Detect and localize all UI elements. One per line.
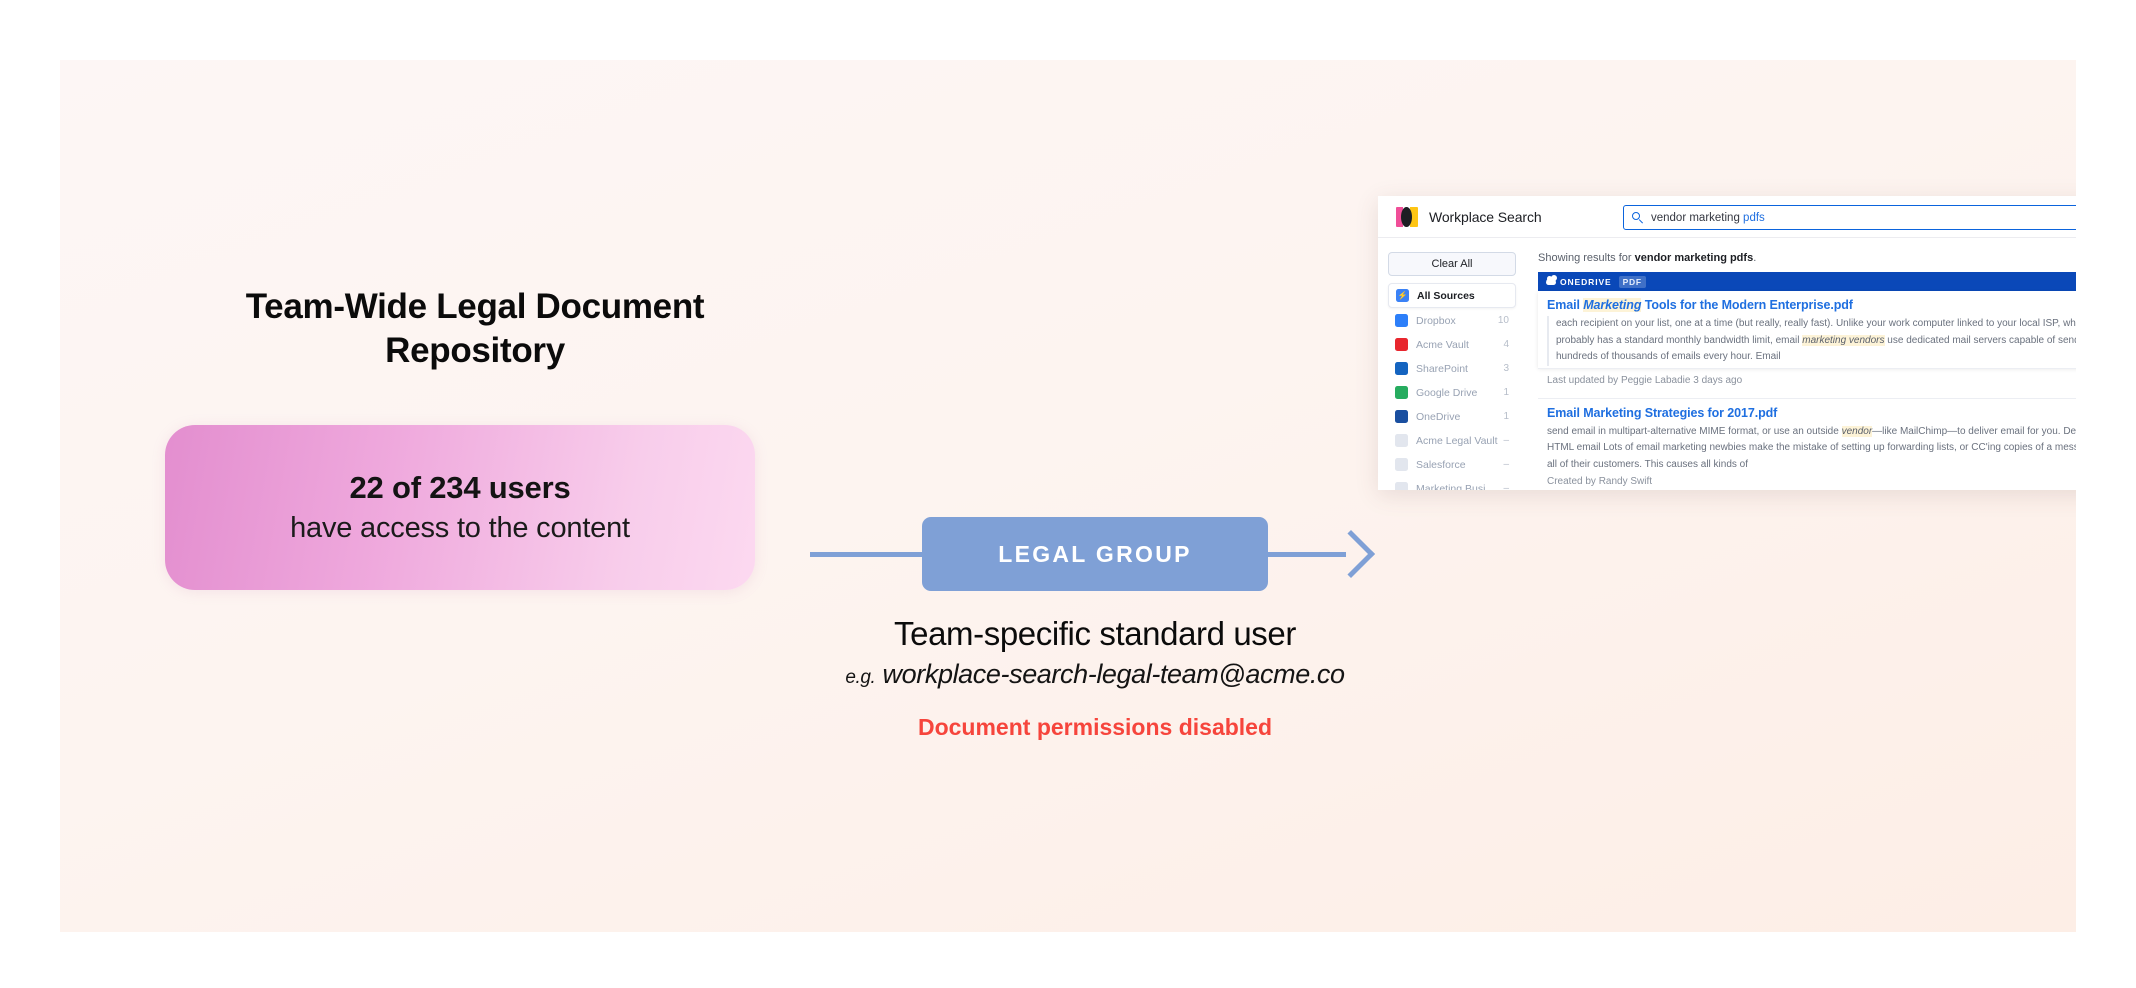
source-filter-list: Dropbox10Acme Vault4SharePoint3Google Dr… (1388, 309, 1516, 490)
arrow-head-icon (1327, 530, 1375, 578)
sidebar-item-label: Acme Legal Vault (1416, 435, 1498, 447)
sidebar-item-count: 1 (1498, 387, 1509, 398)
sidebar-item-source[interactable]: OneDrive1 (1388, 405, 1516, 428)
sidebar-item-label: Salesforce (1416, 459, 1466, 471)
banner-source: ONEDRIVE (1560, 277, 1612, 287)
arrow-line-left (810, 552, 922, 557)
title-part-2: Tools for the Modern Enterprise.pdf (1641, 298, 1852, 312)
sidebar-item-all-sources[interactable]: ⚡ All Sources (1388, 283, 1516, 308)
snippet-highlight: marketing vendors (1802, 335, 1884, 346)
left-column: Team-Wide Legal Document Repository 22 o… (165, 285, 785, 590)
sidebar-item-source[interactable]: Google Drive1 (1388, 381, 1516, 404)
snippet-part-1: send email in multipart-alternative MIME… (1547, 426, 1842, 437)
sidebar-item-label: All Sources (1417, 290, 1475, 302)
result-title[interactable]: Email Marketing Tools for the Modern Ent… (1547, 298, 2076, 312)
flow-arrow: LEGAL GROUP (810, 515, 1380, 593)
sidebar-item-count: 1 (1498, 411, 1509, 422)
title-highlight: Marketing (1583, 298, 1641, 312)
result-card[interactable]: Email Marketing Strategies for 2017.pdf … (1538, 399, 2076, 491)
vault-icon (1395, 338, 1408, 351)
result-source-banner: ONEDRIVE PDF (1538, 272, 2076, 291)
permissions-warning: Document permissions disabled (810, 714, 1380, 741)
user-type-label: Team-specific standard user (810, 615, 1380, 653)
onedrive-icon-label: ONEDRIVE (1546, 277, 1612, 287)
banner-filetype: PDF (1619, 276, 1646, 288)
example-email-row: e.g. workplace-search-legal-team@acme.co (810, 659, 1380, 690)
app-body: Clear All ⚡ All Sources Dropbox10Acme Va… (1378, 239, 2076, 490)
sidebar-item-label: Acme Vault (1416, 339, 1469, 351)
onedrive-icon (1395, 410, 1408, 423)
sidebar-item-count: – (1498, 483, 1509, 490)
vault-icon (1395, 434, 1408, 447)
sidebar-item-source[interactable]: Acme Vault4 (1388, 333, 1516, 356)
sidebar-item-source[interactable]: Acme Legal Vault– (1388, 429, 1516, 452)
results-pane: Showing results for vendor marketing pdf… (1526, 239, 2076, 490)
vault-icon (1395, 482, 1408, 490)
sidebar-item-source[interactable]: Marketing Business Re...– (1388, 477, 1516, 490)
search-value: vendor marketing (1651, 212, 1743, 224)
sidebar-item-source[interactable]: Salesforce– (1388, 453, 1516, 476)
snippet-highlight: vendor (1842, 426, 1873, 437)
page-title: Team-Wide Legal Document Repository (165, 285, 785, 373)
access-summary-card: 22 of 234 users have access to the conte… (165, 425, 755, 590)
result-title[interactable]: Email Marketing Strategies for 2017.pdf (1547, 406, 2076, 420)
sidebar-item-count: – (1498, 435, 1509, 446)
cloud-icon (1546, 278, 1556, 285)
title-part-1: Email (1547, 298, 1583, 312)
sidebar-item-label: Marketing Business Re... (1416, 483, 1498, 491)
legal-group-chip: LEGAL GROUP (922, 517, 1268, 591)
result-body: Email Marketing Tools for the Modern Ent… (1538, 291, 2076, 368)
access-count: 22 of 234 users (349, 470, 570, 506)
filters-sidebar: Clear All ⚡ All Sources Dropbox10Acme Va… (1378, 239, 1526, 490)
sidebar-item-count: 3 (1498, 363, 1509, 374)
sidebar-item-count: 10 (1493, 315, 1509, 326)
search-icon (1632, 212, 1643, 223)
sidebar-item-label: Google Drive (1416, 387, 1477, 399)
drive-icon (1395, 386, 1408, 399)
sharepoint-icon (1395, 362, 1408, 375)
sidebar-item-label: SharePoint (1416, 363, 1468, 375)
middle-column: LEGAL GROUP Team-specific standard user … (810, 515, 1380, 741)
cloud-icon (1395, 458, 1408, 471)
result-snippet: each recipient on your list, one at a ti… (1547, 316, 2076, 366)
sidebar-item-count: – (1498, 459, 1509, 470)
elastic-logo-icon (1396, 206, 1418, 228)
sidebar-item-label: OneDrive (1416, 411, 1460, 423)
search-input[interactable]: vendor marketing pdfs (1651, 212, 1765, 224)
results-summary-suffix: . (1753, 252, 1756, 264)
bolt-icon: ⚡ (1396, 289, 1409, 302)
sidebar-item-count: 4 (1498, 339, 1509, 350)
sidebar-item-label: Dropbox (1416, 315, 1456, 327)
results-summary-query: vendor marketing pdfs (1635, 252, 1754, 264)
search-bar[interactable]: vendor marketing pdfs (1623, 205, 2076, 230)
sidebar-item-source[interactable]: Dropbox10 (1388, 309, 1516, 332)
sidebar-item-source[interactable]: SharePoint3 (1388, 357, 1516, 380)
result-snippet: send email in multipart-alternative MIME… (1547, 424, 2076, 474)
result-meta: Last updated by Peggie Labadie 3 days ag… (1538, 368, 2076, 392)
access-description: have access to the content (290, 512, 630, 545)
box-icon (1395, 314, 1408, 327)
app-header: Workplace Search vendor marketing pdfs (1378, 196, 2076, 238)
results-summary: Showing results for vendor marketing pdf… (1538, 252, 2076, 264)
example-email: workplace-search-legal-team@acme.co (883, 659, 1345, 689)
result-card-featured[interactable]: ONEDRIVE PDF Email Marketing Tools for t… (1538, 272, 2076, 392)
clear-all-button[interactable]: Clear All (1388, 252, 1516, 276)
search-suggestion: pdfs (1743, 212, 1765, 224)
slide-canvas: Team-Wide Legal Document Repository 22 o… (60, 60, 2076, 932)
example-prefix: e.g. (845, 667, 875, 688)
app-title: Workplace Search (1429, 209, 1542, 225)
result-created-by: Created by Randy Swift (1547, 476, 2076, 487)
workplace-search-window: Workplace Search vendor marketing pdfs C… (1378, 196, 2076, 490)
results-summary-prefix: Showing results for (1538, 252, 1635, 264)
